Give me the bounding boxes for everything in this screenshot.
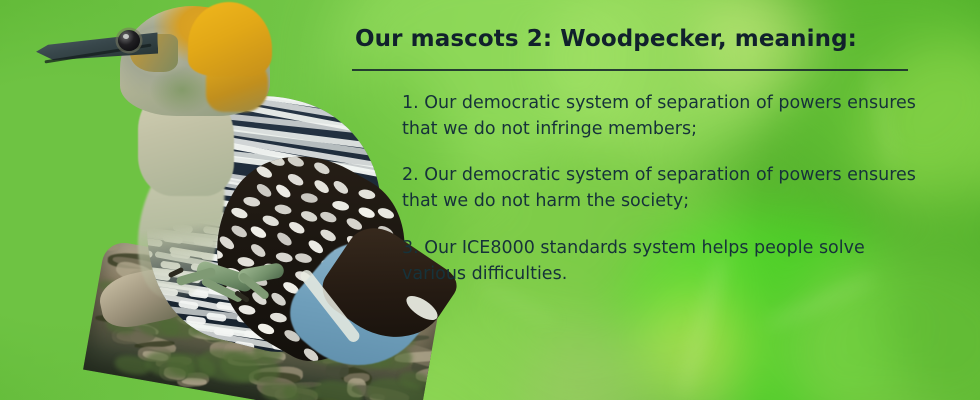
banner-text-column: Our mascots 2: Woodpecker, meaning: 1. O… — [352, 0, 952, 400]
bird-eye-highlight — [123, 34, 129, 39]
mascot-banner: Our mascots 2: Woodpecker, meaning: 1. O… — [0, 0, 980, 400]
bird-golden-crown — [188, 2, 272, 76]
bird-eye — [118, 30, 140, 51]
mascot-meaning-item-1: 1. Our democratic system of separation o… — [402, 91, 932, 142]
page-title: Our mascots 2: Woodpecker, meaning: — [355, 26, 857, 52]
mascot-meaning-item-2: 2. Our democratic system of separation o… — [402, 163, 932, 214]
title-divider — [352, 69, 908, 71]
mascot-meaning-item-3: 3. Our ICE8000 standards system helps pe… — [402, 236, 932, 287]
